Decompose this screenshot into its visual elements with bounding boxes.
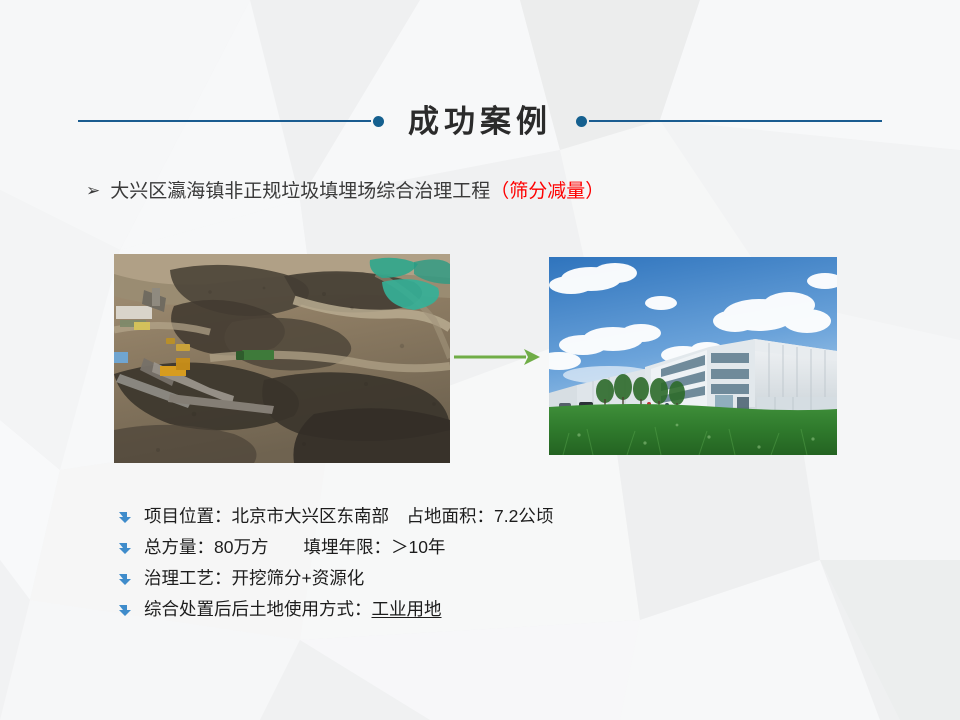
presentation-slide: 成功案例 ➢大兴区瀛海镇非正规垃圾填埋场综合治理工程（筛分减量） — [0, 0, 960, 720]
arrow-bullet-icon — [118, 572, 132, 586]
list-item-label: 治理工艺：开挖筛分+资源化 — [144, 567, 364, 590]
after-photo — [549, 257, 837, 455]
arrow-bullet-icon — [118, 510, 132, 524]
project-facts-list: 项目位置：北京市大兴区东南部 占地面积：7.2公顷 总方量：80万方 填埋年限：… — [118, 505, 738, 629]
title-dot-left — [373, 116, 384, 127]
list-item-label-underlined: 工业用地 — [372, 599, 442, 619]
title-rule-left — [78, 120, 371, 122]
list-item-label: 总方量：80万方 填埋年限：＞10年 — [144, 536, 445, 559]
list-item-label-plain: 综合处置后后土地使用方式： — [144, 599, 372, 619]
list-item: 治理工艺：开挖筛分+资源化 — [118, 567, 738, 590]
title-dot-right — [576, 116, 587, 127]
arrow-bullet-icon — [118, 541, 132, 555]
project-subtitle: ➢大兴区瀛海镇非正规垃圾填埋场综合治理工程（筛分减量） — [86, 180, 604, 205]
list-item: 项目位置：北京市大兴区东南部 占地面积：7.2公顷 — [118, 505, 738, 528]
subtitle-arrow-icon: ➢ — [86, 180, 100, 202]
title-rule-right — [589, 120, 882, 122]
before-photo-graphic — [114, 254, 450, 463]
list-item: 综合处置后后土地使用方式：工业用地 — [118, 598, 738, 621]
subtitle-main-text: 大兴区瀛海镇非正规垃圾填埋场综合治理工程 — [110, 181, 490, 202]
subtitle-highlight-text: （筛分减量） — [490, 181, 604, 202]
page-title: 成功案例 — [386, 106, 574, 137]
after-photo-graphic — [549, 257, 837, 455]
list-item: 总方量：80万方 填埋年限：＞10年 — [118, 536, 738, 559]
list-item-label: 综合处置后后土地使用方式：工业用地 — [144, 598, 442, 621]
slide-title-row: 成功案例 — [0, 100, 960, 142]
list-item-label: 项目位置：北京市大兴区东南部 占地面积：7.2公顷 — [144, 505, 553, 528]
before-photo — [114, 254, 450, 463]
right-arrow-icon — [452, 345, 542, 369]
arrow-bullet-icon — [118, 603, 132, 617]
